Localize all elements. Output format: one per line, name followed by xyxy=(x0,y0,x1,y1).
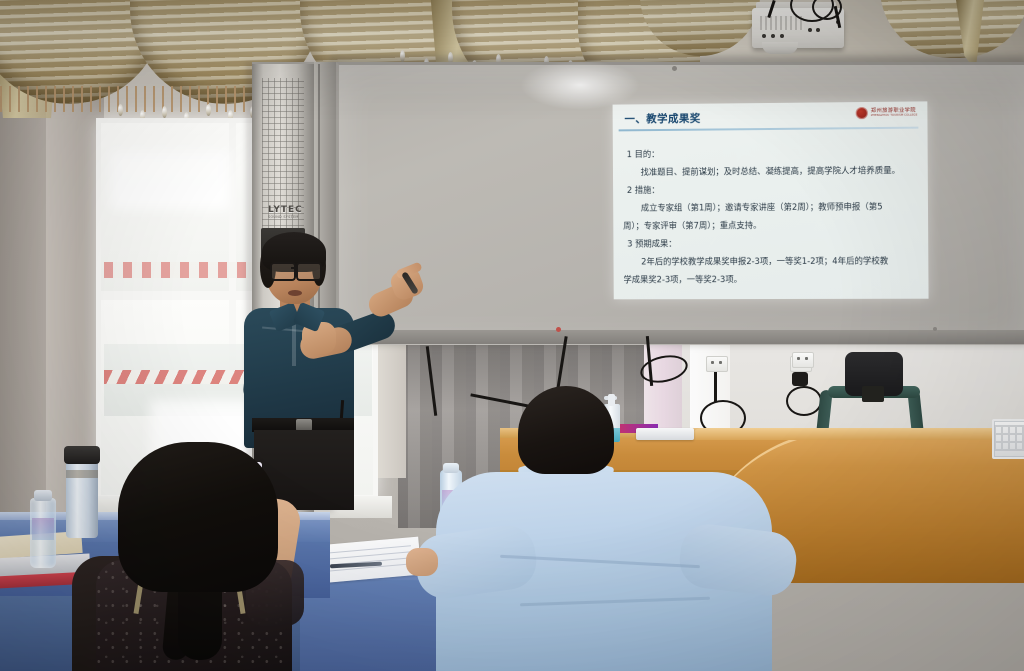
speaker-subbrand-text: SOUND SYSTEM xyxy=(268,215,318,219)
board-sensor-dot xyxy=(933,327,937,331)
board-sensor-dot xyxy=(672,66,677,71)
power-plug xyxy=(792,372,808,386)
water-bottle-cap xyxy=(34,490,52,501)
power-cable xyxy=(714,372,717,402)
wall-outlet[interactable] xyxy=(792,352,814,368)
slide-line: 3 预期成果： xyxy=(627,237,676,249)
seated-man-hand xyxy=(406,548,438,576)
presenter-glasses-right-lens xyxy=(296,262,322,281)
slide-line: 周）；专家评审（第7周）；重点支持。 xyxy=(623,219,761,232)
presenter-mouth xyxy=(288,290,302,296)
insulated-tumbler xyxy=(66,452,98,538)
white-laptop xyxy=(636,428,694,440)
wall-outlet[interactable] xyxy=(706,356,728,372)
slide-line: 2年后的学校教学成果奖申报2-3项，一等奖1-2项；4年后的学校教 xyxy=(641,255,888,268)
seated-woman-head xyxy=(118,442,278,592)
slide-line: 1 目的： xyxy=(627,148,660,160)
slide-line: 成立专家组（第1周）；邀请专家讲座（第2周）；教师预申报（第5 xyxy=(641,200,883,213)
slide-title-rule xyxy=(619,127,919,132)
projector-light-spill xyxy=(520,60,640,110)
speaker-brand-label: LYTEC SOUND SYSTEM xyxy=(268,205,318,221)
tumbler-lid xyxy=(64,446,100,464)
logo-name-en: ZHENGZHOU TOURISM COLLEGE xyxy=(871,114,917,117)
board-bottom-frame xyxy=(336,330,1024,344)
speaker-brand-text: LYTEC xyxy=(268,205,303,215)
window-glare xyxy=(110,150,230,210)
board-indicator-led xyxy=(556,327,561,332)
slide-title: 一、教学成果奖 xyxy=(624,111,700,127)
curved-wood-desk-edge xyxy=(690,428,1024,440)
water-bottle-label xyxy=(32,518,54,540)
basket-weave-pattern xyxy=(994,425,1024,451)
institution-logo: 郑州旅游职业学院 ZHENGZHOU TOURISM COLLEGE xyxy=(856,107,918,120)
presenter-shirt-placket xyxy=(292,320,296,366)
hand-sanitizer-pump xyxy=(608,394,615,406)
presenter-glasses-bridge xyxy=(291,267,298,269)
classroom-scene: 郑州旅游职业学院 ZHENGZHOU TOURISM COLLEGE 一、教学成… xyxy=(0,0,1024,671)
tumbler-tea-ring xyxy=(66,470,98,478)
university-seal-icon xyxy=(856,107,868,119)
presenter-glasses-left-lens xyxy=(270,262,296,281)
seated-man-head xyxy=(518,386,614,474)
slide-line: 2 措施： xyxy=(627,184,660,196)
slide-line: 学成果奖2-3项，一等奖2-3项。 xyxy=(623,273,742,285)
projector-lens xyxy=(762,42,798,54)
power-cable-coil xyxy=(786,386,822,416)
office-chair-bracket xyxy=(862,386,884,402)
water-bottle-cap xyxy=(443,463,459,473)
projected-slide: 郑州旅游职业学院 ZHENGZHOU TOURISM COLLEGE 一、教学成… xyxy=(613,101,929,299)
slide-line: 找准题目、提前谋划；及时总结、凝练提高，提高学院人才培养质量。 xyxy=(641,164,901,178)
